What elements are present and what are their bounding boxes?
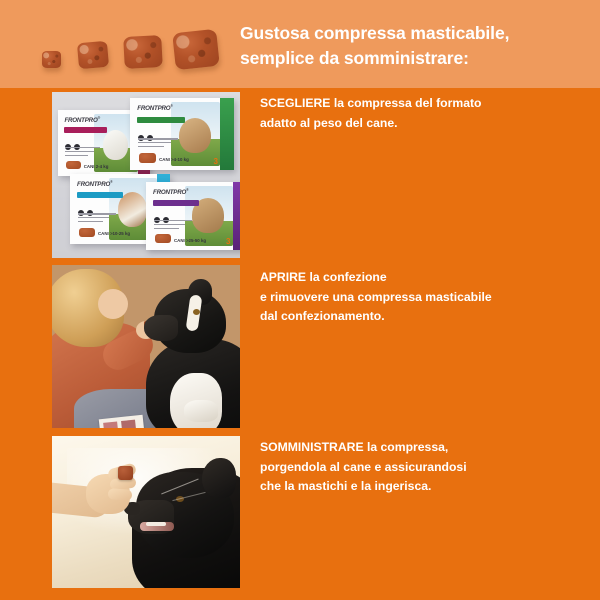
- page-title-line-1: Gustosa compressa masticabile,: [240, 21, 590, 46]
- step-1-text: SCEGLIERE la compressa del formato adatt…: [260, 94, 590, 133]
- step-3-line-1: SOMMINISTRARE la compressa,: [260, 438, 590, 458]
- step-2-line-1: APRIRE la confezione: [260, 268, 590, 288]
- product-box-4-count: 3: [226, 237, 230, 246]
- product-box-4-weight: CANI >25-50 kg: [174, 238, 206, 243]
- page-title-line-2: semplice da somministrare:: [240, 46, 590, 71]
- product-box-3-weight: CANI >10-25 kg: [98, 231, 130, 236]
- human-finger-3: [108, 488, 133, 501]
- product-box-4-subtitle-bar: [153, 200, 199, 206]
- product-box-3-dots: [78, 203, 102, 210]
- product-box-1-tablet-icon: [66, 161, 81, 170]
- product-box-4-lid: [233, 182, 240, 250]
- chewable-tablets-group: [38, 24, 208, 74]
- step-3-line-2: porgendola al cane e assicurandosi: [260, 458, 590, 478]
- page-title: Gustosa compressa masticabile, semplice …: [240, 21, 590, 71]
- product-box-1-weight: CANI 2-4 kg: [84, 164, 109, 169]
- product-box-4-textlines: [154, 220, 192, 231]
- step-2-text: APRIRE la confezione e rimuovere una com…: [260, 268, 590, 327]
- step-1-lead: SCEGLIERE: [260, 96, 330, 110]
- step-2-rest: la confezione: [306, 270, 387, 284]
- dog-teeth: [146, 522, 166, 526]
- collie-eye: [193, 309, 200, 315]
- woman-face: [98, 289, 128, 319]
- product-box-3-subtitle-bar: [77, 192, 123, 198]
- step-3-text: SOMMINISTRARE la compressa, porgendola a…: [260, 438, 590, 497]
- collie-paw: [184, 400, 218, 422]
- product-box-1-dots: [65, 137, 87, 144]
- product-box-1-brand: FRONTPRO®: [64, 116, 99, 124]
- product-box-4-dots: [154, 210, 178, 217]
- product-box-2-textlines: [138, 138, 178, 149]
- step-2-lead: APRIRE: [260, 270, 306, 284]
- product-box-2-brand: FRONTPRO®: [137, 104, 172, 112]
- step-3-rest: la compressa,: [364, 440, 449, 454]
- product-box-3-textlines: [78, 213, 116, 224]
- product-box-4-tablet-icon: [155, 234, 171, 243]
- product-box-2-tablet-icon: [139, 153, 156, 162]
- step-2-line-2: e rimuovere una compressa masticabile: [260, 288, 590, 308]
- woman-giving-tablet-to-dog-photo: [52, 265, 240, 428]
- chewable-tablet-xs-icon: [42, 51, 61, 68]
- collie-muzzle: [144, 315, 178, 341]
- hand-offering-tablet-to-dog-photo: [52, 436, 240, 588]
- product-box-2: FRONTPRO® CANI >4-10 kg 3: [130, 98, 234, 170]
- product-box-4: FRONTPRO® CANI >25-50 kg 3: [146, 182, 240, 250]
- product-box-4-brand: FRONTPRO®: [153, 188, 188, 196]
- product-box-2-lid: [220, 98, 234, 170]
- step-1-rest: la compressa del formato: [330, 96, 481, 110]
- product-box-3-brand: FRONTPRO®: [77, 180, 112, 188]
- step-1-line-2: adatto al peso del cane.: [260, 114, 590, 134]
- step-1-line-1: SCEGLIERE la compressa del formato: [260, 94, 590, 114]
- frontpro-product-boxes-photo: FRONTPRO® CANI 2-4 kg 3 FRONTPRO® CANI >…: [52, 92, 240, 258]
- step-3-line-3: che la mastichi e la ingerisca.: [260, 477, 590, 497]
- chewable-tablet-m-icon: [123, 35, 163, 69]
- tablet-offered-icon: [118, 466, 133, 480]
- product-box-1-textlines: [65, 147, 100, 158]
- product-box-1-subtitle-bar: [64, 127, 106, 133]
- product-box-3-tablet-icon: [79, 228, 95, 237]
- product-box-2-weight: CANI >4-10 kg: [159, 157, 189, 162]
- header-band: Gustosa compressa masticabile, semplice …: [0, 0, 600, 88]
- dog-ear: [202, 458, 236, 498]
- product-box-2-count: 3: [213, 157, 217, 166]
- step-3-lead: SOMMINISTRARE: [260, 440, 364, 454]
- chewable-tablet-s-icon: [77, 41, 109, 70]
- chewable-tablet-l-icon: [172, 29, 220, 70]
- product-box-2-dots: [138, 128, 163, 135]
- product-box-2-subtitle-bar: [137, 117, 185, 123]
- step-2-line-3: dal confezionamento.: [260, 307, 590, 327]
